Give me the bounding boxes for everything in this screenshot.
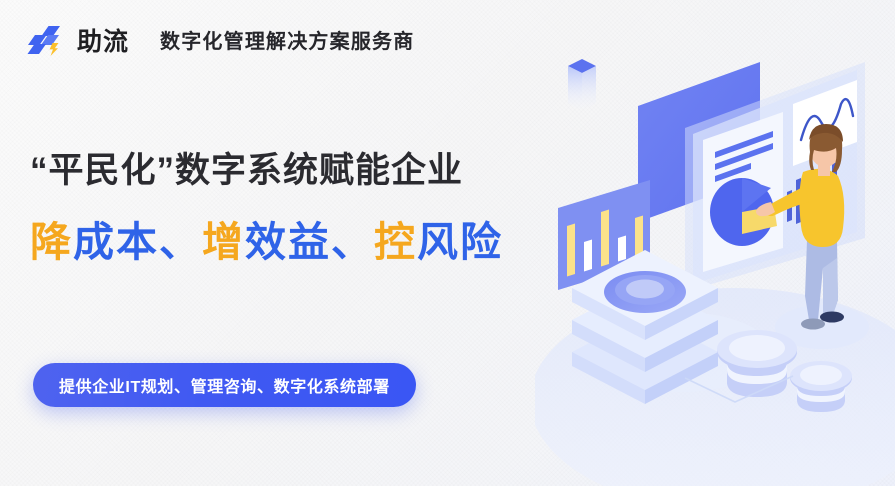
- disk-stack-large: [717, 330, 797, 397]
- brand-lockup: 助流 数字化管理解决方案服务商: [26, 22, 414, 62]
- floating-cube: [568, 59, 596, 112]
- hero-subline: 降成本、增效益、控风险: [30, 219, 503, 266]
- subline-part-5: 控: [374, 219, 417, 265]
- subline-part-4: 效益、: [245, 219, 374, 265]
- brand-wordmark: 助流: [77, 30, 129, 55]
- server-top-disc: [604, 271, 686, 313]
- subline-part-1: 降: [30, 219, 73, 265]
- zhuliu-lightning-logo-icon: [26, 22, 66, 62]
- subline-part-2: 成本、: [73, 219, 202, 265]
- subline-part-6: 风险: [417, 219, 503, 265]
- disk-stack-small: [790, 361, 852, 412]
- hero-headline: “平民化”数字系统赋能企业: [30, 152, 463, 191]
- dashboard-card: [703, 112, 783, 272]
- subline-part-3: 增: [202, 219, 245, 265]
- promo-banner: 助流 数字化管理解决方案服务商 “平民化”数字系统赋能企业 降成本、增效益、控风…: [0, 0, 895, 486]
- isometric-data-dashboard-illustration: [535, 0, 895, 486]
- cta-services-button[interactable]: 提供企业IT规划、管理咨询、数字化系统部署: [33, 363, 416, 407]
- brand-tagline: 数字化管理解决方案服务商: [160, 32, 414, 52]
